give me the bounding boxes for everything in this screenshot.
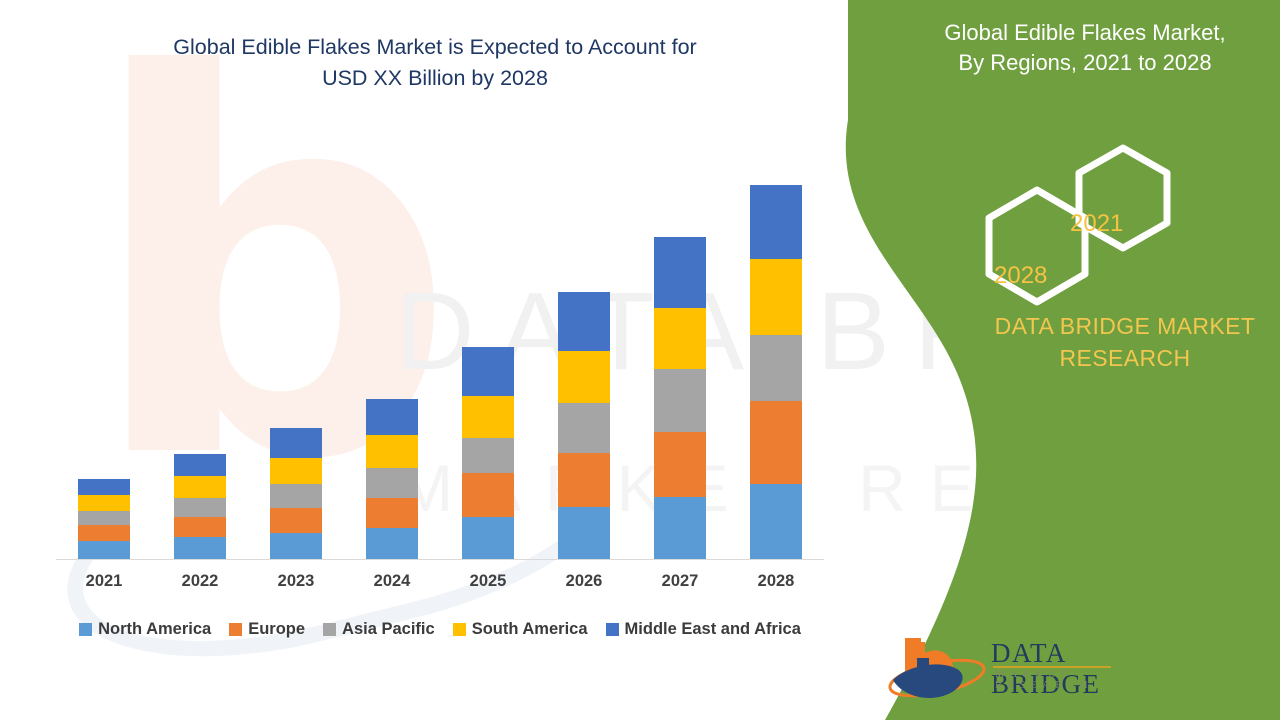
bar-segment[interactable] bbox=[654, 369, 706, 432]
x-axis-tick-2026: 2026 bbox=[536, 572, 632, 600]
hexagon-group: 2021 2028 bbox=[975, 140, 1205, 310]
panel-brand-line-2: RESEARCH bbox=[965, 342, 1280, 374]
bar-segment[interactable] bbox=[174, 454, 226, 476]
bar-segment[interactable] bbox=[366, 528, 418, 559]
bar-segment[interactable] bbox=[78, 479, 130, 495]
bar-column-2021 bbox=[56, 120, 152, 559]
stacked-bar[interactable] bbox=[558, 292, 610, 559]
stacked-bar[interactable] bbox=[270, 428, 322, 559]
logo-mark-icon bbox=[887, 638, 987, 703]
chart-title-line-1: Global Edible Flakes Market is Expected … bbox=[60, 32, 810, 63]
bar-segment[interactable] bbox=[558, 403, 610, 453]
legend-label: South America bbox=[472, 620, 588, 639]
legend-item[interactable]: Europe bbox=[229, 620, 305, 639]
legend-swatch-icon bbox=[229, 623, 242, 636]
bar-segment[interactable] bbox=[174, 537, 226, 559]
stacked-bar[interactable] bbox=[366, 399, 418, 559]
panel-brand-line-1: DATA BRIDGE MARKET bbox=[965, 310, 1280, 342]
bar-column-2023 bbox=[248, 120, 344, 559]
logo-tagline: MARKET RESEARCH bbox=[995, 669, 1115, 691]
legend-swatch-icon bbox=[453, 623, 466, 636]
legend-label: North America bbox=[98, 620, 211, 639]
x-axis-tick-2023: 2023 bbox=[248, 572, 344, 600]
bar-group bbox=[56, 120, 824, 559]
bar-segment[interactable] bbox=[270, 508, 322, 533]
bar-segment[interactable] bbox=[654, 308, 706, 369]
x-axis-line bbox=[56, 559, 824, 560]
panel-brand-text: DATA BRIDGE MARKET RESEARCH bbox=[965, 310, 1280, 374]
bar-segment[interactable] bbox=[558, 292, 610, 351]
legend-item[interactable]: Asia Pacific bbox=[323, 620, 435, 639]
panel-title: Global Edible Flakes Market, By Regions,… bbox=[905, 18, 1265, 78]
bar-segment[interactable] bbox=[366, 399, 418, 435]
bar-segment[interactable] bbox=[750, 185, 802, 259]
bar-column-2027 bbox=[632, 120, 728, 559]
hexagon-label-2021: 2021 bbox=[1070, 210, 1123, 238]
panel-title-line-2: By Regions, 2021 to 2028 bbox=[905, 48, 1265, 78]
bar-segment[interactable] bbox=[750, 335, 802, 401]
bar-segment[interactable] bbox=[270, 428, 322, 458]
bar-segment[interactable] bbox=[78, 525, 130, 541]
bar-segment[interactable] bbox=[366, 468, 418, 498]
stacked-bar[interactable] bbox=[750, 185, 802, 559]
bar-segment[interactable] bbox=[270, 533, 322, 559]
stacked-bar[interactable] bbox=[462, 347, 514, 559]
bar-segment[interactable] bbox=[654, 432, 706, 497]
legend-swatch-icon bbox=[606, 623, 619, 636]
bar-segment[interactable] bbox=[462, 517, 514, 559]
bar-segment[interactable] bbox=[270, 458, 322, 484]
chart-title: Global Edible Flakes Market is Expected … bbox=[60, 32, 810, 94]
bar-segment[interactable] bbox=[78, 541, 130, 559]
bar-segment[interactable] bbox=[462, 438, 514, 473]
bar-segment[interactable] bbox=[654, 237, 706, 308]
bar-column-2022 bbox=[152, 120, 248, 559]
bar-segment[interactable] bbox=[750, 484, 802, 559]
hexagon-label-2028: 2028 bbox=[994, 262, 1047, 290]
x-axis-tick-2021: 2021 bbox=[56, 572, 152, 600]
bar-segment[interactable] bbox=[366, 435, 418, 468]
x-axis-tick-2024: 2024 bbox=[344, 572, 440, 600]
data-bridge-logo: DATA BRIDGE MARKET RESEARCH bbox=[885, 634, 1115, 706]
stacked-bar[interactable] bbox=[78, 479, 130, 559]
x-axis-tick-2027: 2027 bbox=[632, 572, 728, 600]
bar-segment[interactable] bbox=[558, 507, 610, 559]
panel-title-line-1: Global Edible Flakes Market, bbox=[905, 18, 1265, 48]
x-axis-tick-2022: 2022 bbox=[152, 572, 248, 600]
chart-plot-area bbox=[56, 120, 824, 560]
bar-segment[interactable] bbox=[366, 498, 418, 528]
bar-segment[interactable] bbox=[78, 495, 130, 511]
bar-segment[interactable] bbox=[558, 453, 610, 507]
bar-column-2024 bbox=[344, 120, 440, 559]
bar-column-2028 bbox=[728, 120, 824, 559]
bar-segment[interactable] bbox=[78, 511, 130, 525]
legend-swatch-icon bbox=[79, 623, 92, 636]
legend-swatch-icon bbox=[323, 623, 336, 636]
legend-item[interactable]: North America bbox=[79, 620, 211, 639]
bar-segment[interactable] bbox=[174, 517, 226, 537]
x-axis-labels: 20212022202320242025202620272028 bbox=[56, 572, 824, 600]
bar-segment[interactable] bbox=[558, 351, 610, 403]
bar-segment[interactable] bbox=[174, 498, 226, 517]
x-axis-tick-2028: 2028 bbox=[728, 572, 824, 600]
bar-column-2025 bbox=[440, 120, 536, 559]
bar-segment[interactable] bbox=[174, 476, 226, 498]
legend-item[interactable]: South America bbox=[453, 620, 588, 639]
legend-label: Asia Pacific bbox=[342, 620, 435, 639]
bar-segment[interactable] bbox=[462, 473, 514, 517]
bar-segment[interactable] bbox=[270, 484, 322, 508]
slide-canvas: b DATA BRIDGE MARKET RESEARCH Global Edi… bbox=[0, 0, 1280, 720]
stacked-bar[interactable] bbox=[174, 454, 226, 559]
bar-segment[interactable] bbox=[750, 401, 802, 484]
legend-item[interactable]: Middle East and Africa bbox=[606, 620, 801, 639]
legend-label: Europe bbox=[248, 620, 305, 639]
x-axis-tick-2025: 2025 bbox=[440, 572, 536, 600]
stacked-bar[interactable] bbox=[654, 237, 706, 559]
bar-column-2026 bbox=[536, 120, 632, 559]
chart-legend: North AmericaEuropeAsia PacificSouth Ame… bbox=[56, 615, 824, 643]
bar-segment[interactable] bbox=[750, 259, 802, 335]
bar-segment[interactable] bbox=[654, 497, 706, 559]
bar-segment[interactable] bbox=[462, 396, 514, 438]
chart-title-line-2: USD XX Billion by 2028 bbox=[60, 63, 810, 94]
legend-label: Middle East and Africa bbox=[625, 620, 801, 639]
bar-segment[interactable] bbox=[462, 347, 514, 396]
